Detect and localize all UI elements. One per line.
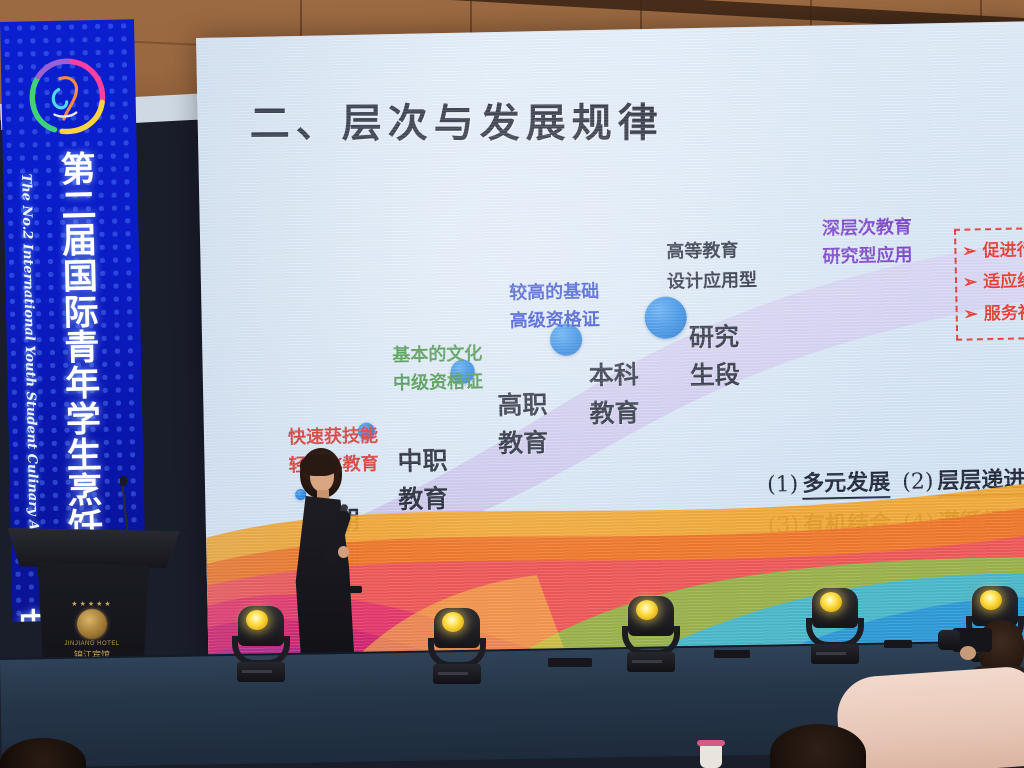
light-lens-icon [442, 612, 464, 632]
callout-item-1: ➢ 促进行业 [962, 235, 1024, 269]
logo-emblem-icon [77, 609, 107, 639]
drink-cup [700, 744, 722, 768]
descriptor-green-line2: 中级资格证 [393, 370, 483, 395]
light-lens-icon [636, 600, 658, 620]
event-logo-icon [27, 56, 107, 136]
callout-item-2: ➢ 适应经济 [963, 266, 1024, 300]
descriptor-purple-line2: 研究型应用 [822, 244, 912, 269]
descriptor-purple-line1: 深层次教育 [822, 216, 912, 241]
stage-label-3-line1: 高职 [497, 389, 548, 422]
light-vent [632, 660, 662, 663]
light-vent [438, 672, 468, 675]
stage-equipment [884, 640, 912, 648]
callout-item-3: ➢ 服务社会 [963, 297, 1024, 331]
light-lens-icon [820, 592, 842, 612]
microphone-icon [120, 476, 127, 486]
logo-stars-icon: ★★★★★ [60, 600, 124, 608]
stage-equipment [714, 650, 750, 658]
stage-equipment [548, 658, 592, 667]
descriptor-green-line1: 基本的文化 [392, 342, 482, 367]
stage-label-5-line1: 研究 [689, 321, 740, 354]
light-lens-icon [246, 610, 268, 630]
banner-char-1: 第 [55, 152, 102, 189]
drink-cup-lid [697, 740, 725, 746]
podium-top [2, 528, 180, 568]
banner-char-7: 年 [59, 366, 106, 403]
banner-char-3: 届 [56, 223, 103, 260]
presenter-hand [338, 546, 349, 558]
descriptor-blue-line2: 高级资格证 [510, 308, 600, 333]
banner-char-2: 二 [56, 188, 103, 225]
banner-char-9: 生 [61, 437, 108, 474]
stage-label-3-line2: 教育 [498, 427, 549, 460]
banner-char-10: 烹 [61, 473, 108, 510]
stage-label-5-line2: 生段 [690, 359, 741, 392]
banner-title-cn: 第 二 届 国 际 青 年 学 生 烹 饪 艺 [55, 152, 110, 581]
stage-light-3 [622, 596, 680, 674]
presenter-fringe [300, 454, 338, 476]
hotel-logo: ★★★★★ JINJIANG HOTEL 锦江宾馆 [60, 600, 124, 656]
descriptor-dark-line1: 高等教育 [666, 239, 738, 263]
stage-label-4-line1: 本科 [589, 359, 640, 392]
descriptor-dark-line2: 设计应用型 [667, 269, 757, 294]
stage-label-4-line2: 教育 [589, 397, 640, 430]
stage-photograph: 二、层次与发展规律 快速获技能 轻型化教育 基本的文化 中级资格证 较高的基础 [0, 0, 1024, 768]
red-dashed-callout: ➢ 促进行业 ➢ 适应经济 ➢ 服务社会 [954, 226, 1024, 340]
banner-char-4: 国 [57, 259, 104, 296]
banner-char-6: 青 [58, 330, 105, 367]
banner-char-8: 学 [60, 402, 107, 439]
photographer-hand [960, 646, 976, 660]
stage-light-2 [428, 608, 486, 686]
stage-light-1 [232, 606, 290, 684]
light-vent [242, 670, 272, 673]
hotel-logo-en: JINJIANG HOTEL [60, 641, 124, 647]
light-vent [816, 652, 846, 655]
stage-light-4 [806, 588, 864, 666]
camera-lens-icon [938, 630, 960, 650]
descriptor-red-line1: 快速获技能 [288, 424, 378, 449]
banner-char-5: 际 [58, 295, 105, 332]
presentation-clicker [348, 586, 362, 593]
slide-title: 二、层次与发展规律 [250, 91, 664, 149]
descriptor-blue-line1: 较高的基础 [509, 280, 599, 305]
